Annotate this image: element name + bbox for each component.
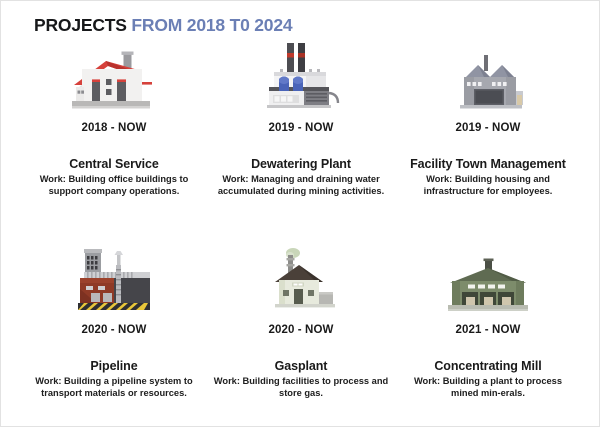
gray-warehouse-twin-gable-icon [388,45,588,113]
project-description: Work: Building office buildings to suppo… [14,173,214,198]
project-years: 2020 - NOW [14,324,214,336]
project-card-dewatering-plant[interactable]: 2019 - NOW Dewatering Plant Work: Managi… [201,45,401,198]
project-card-facility-town-management[interactable]: 2019 - NOW Facility Town Management Work… [388,45,588,198]
project-description: Work: Managing and draining water accumu… [201,173,401,198]
concentrating-mill-green-building-icon [388,247,588,315]
project-name: Pipeline [14,359,214,373]
project-description: Work: Building housing and infrastructur… [388,173,588,198]
project-description: Work: Building a plant to process mined … [388,375,588,400]
page-title-primary: PROJECTS [34,15,127,35]
project-years: 2018 - NOW [14,122,214,134]
factory-house-red-roof-icon [14,45,214,113]
project-name: Central Service [14,157,214,171]
page-title-secondary: FROM 2018 T0 2024 [131,15,292,35]
project-card-pipeline[interactable]: 2020 - NOW Pipeline Work: Building a pip… [14,247,214,400]
project-years: 2019 - NOW [201,122,401,134]
project-years: 2019 - NOW [388,122,588,134]
project-name: Gasplant [201,359,401,373]
project-card-gasplant[interactable]: 2020 - NOW Gasplant Work: Building facil… [201,247,401,400]
project-description: Work: Building a pipeline system to tran… [14,375,214,400]
slide-canvas: PROJECTS FROM 2018 T0 2024 [0,0,600,427]
project-name: Facility Town Management [388,157,588,171]
project-description: Work: Building facilities to process and… [201,375,401,400]
project-name: Dewatering Plant [201,157,401,171]
dewatering-plant-smokestacks-icon [201,45,401,113]
pipeline-industrial-plant-icon [14,247,214,315]
project-card-central-service[interactable]: 2018 - NOW Central Service Work: Buildin… [14,45,214,198]
project-name: Concentrating Mill [388,359,588,373]
gasplant-house-chimney-icon [201,247,401,315]
project-years: 2021 - NOW [388,324,588,336]
project-years: 2020 - NOW [201,324,401,336]
page-title: PROJECTS FROM 2018 T0 2024 [34,15,292,36]
project-card-concentrating-mill[interactable]: 2021 - NOW Concentrating Mill Work: Buil… [388,247,588,400]
